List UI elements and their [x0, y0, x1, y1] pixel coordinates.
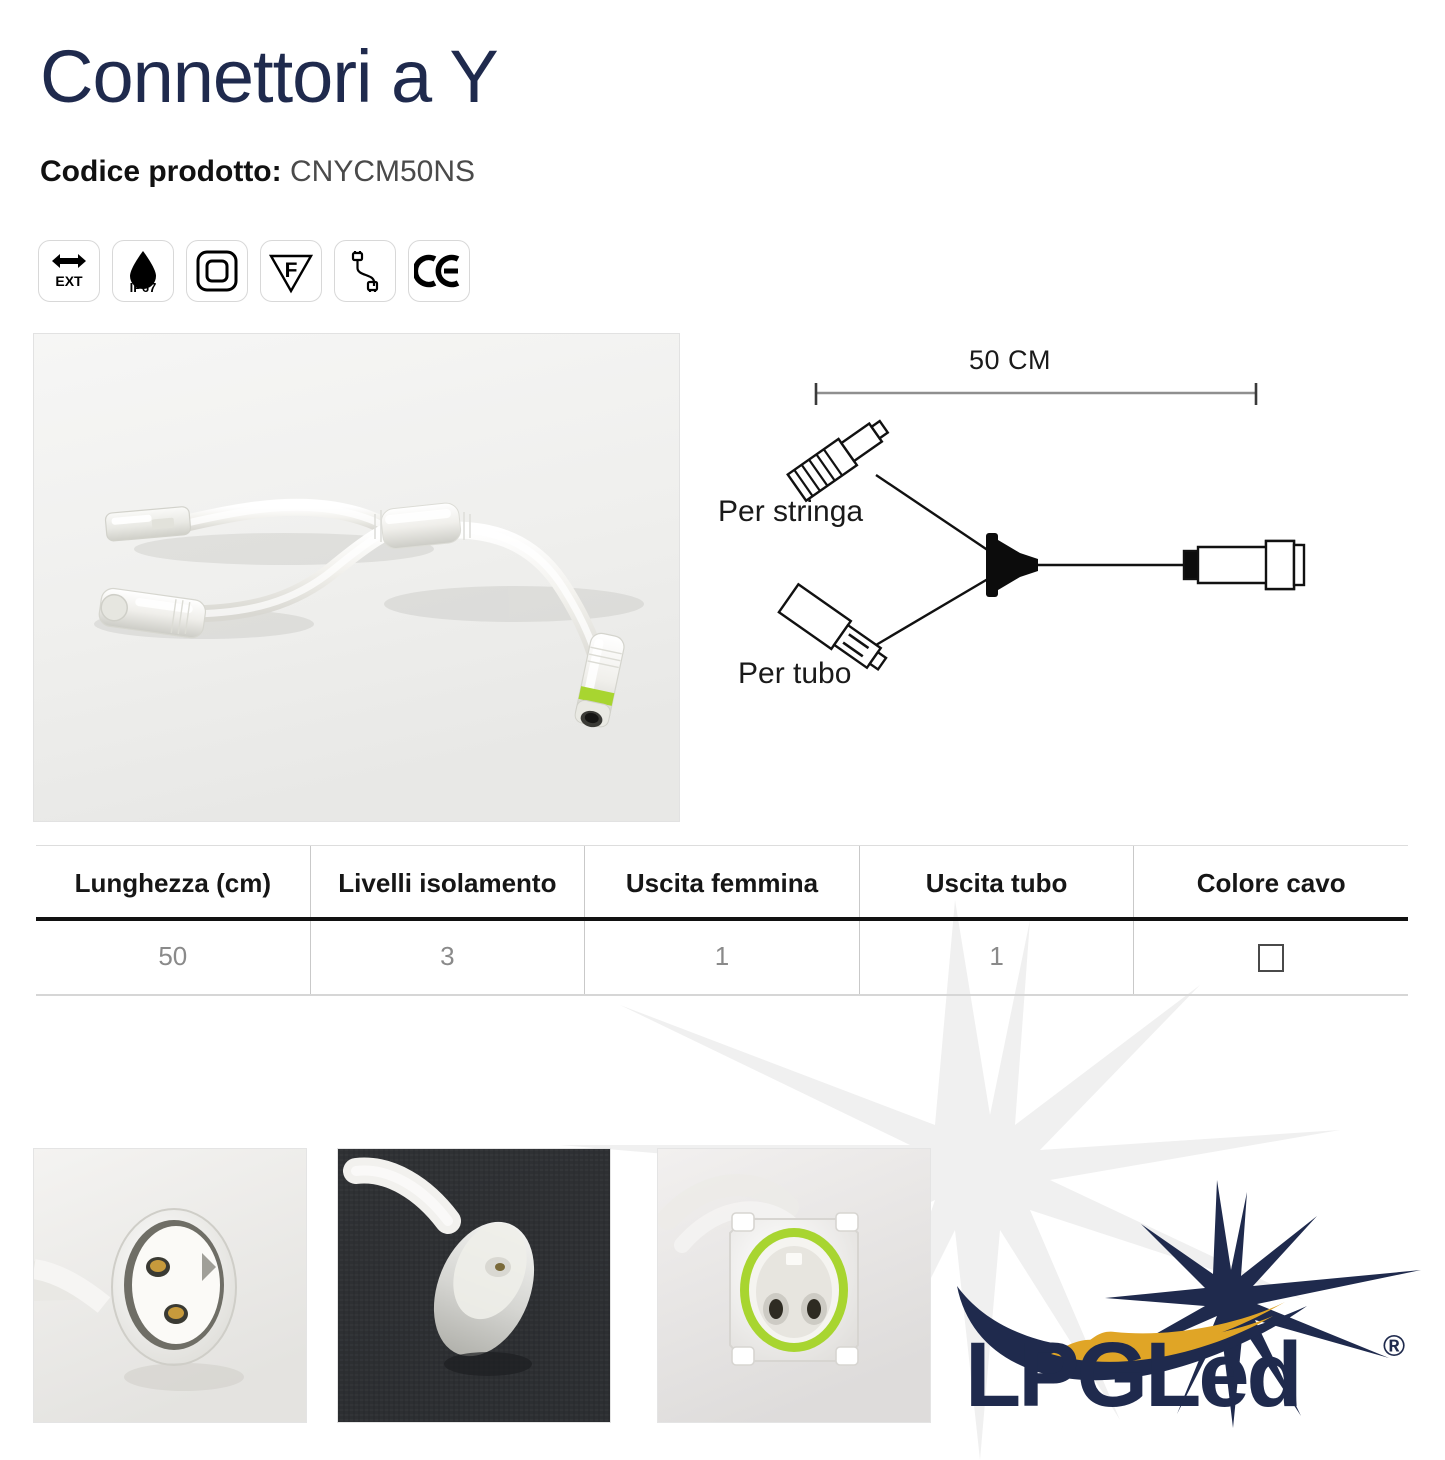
ce-mark-icon: [414, 246, 464, 296]
connector-stringa: [788, 414, 893, 501]
col-header-lunghezza: Lunghezza (cm): [36, 846, 311, 917]
product-code-label: Codice prodotto:: [40, 155, 282, 188]
green-ring-connector-image: [658, 1149, 930, 1422]
cell-uscita-femmina: 1: [585, 921, 860, 994]
ext-label: EXT: [55, 273, 83, 289]
badge-ext: EXT: [38, 240, 100, 302]
ip67-icon: IP67: [118, 246, 168, 296]
cell-lunghezza: 50: [36, 921, 311, 994]
product-code-value: CNYCM50NS: [290, 155, 475, 188]
badge-row: EXT IP67 F: [38, 240, 470, 302]
datasheet-page: Connettori a Y Codice prodotto: CNYCM50N…: [0, 0, 1445, 1445]
ext-icon: EXT: [44, 246, 94, 296]
f-label: F: [285, 259, 298, 282]
label-per-tubo: Per tubo: [738, 657, 851, 691]
product-code: Codice prodotto: CNYCM50NS: [40, 155, 475, 189]
logo-text: LPGLed: [965, 1324, 1300, 1426]
detail-photo-green-ring-connector: [657, 1148, 931, 1423]
lpgled-logo: LPGLed ®: [955, 1178, 1425, 1428]
cell-colore-cavo: [1134, 921, 1408, 994]
col-header-livelli: Livelli isolamento: [311, 846, 586, 917]
detail-photo-female-socket: [33, 1148, 307, 1423]
badge-cable: [334, 240, 396, 302]
female-socket-image: [34, 1149, 306, 1422]
product-photo-main: [33, 333, 680, 822]
cable-color-swatch: [1258, 944, 1284, 972]
table-bottom-rule: [36, 994, 1408, 996]
ip67-label: IP67: [130, 280, 157, 295]
detail-photo-clear-connector: [337, 1148, 611, 1423]
col-header-colore-cavo: Colore cavo: [1134, 846, 1408, 917]
spec-table: Lunghezza (cm) Livelli isolamento Uscita…: [36, 845, 1408, 996]
connector-male: [1184, 541, 1304, 589]
cell-uscita-tubo: 1: [860, 921, 1135, 994]
badge-ip67: IP67: [112, 240, 174, 302]
flame-retardant-f-icon: F: [266, 246, 316, 296]
badge-f-triangle: F: [260, 240, 322, 302]
page-title: Connettori a Y: [40, 38, 498, 116]
technical-drawing: 50 CM: [690, 345, 1330, 735]
y-junction: [986, 533, 1038, 597]
col-header-uscita-femmina: Uscita femmina: [585, 846, 860, 917]
col-header-uscita-tubo: Uscita tubo: [860, 846, 1135, 917]
label-per-stringa: Per stringa: [718, 495, 863, 529]
registered-mark: ®: [1383, 1330, 1405, 1363]
badge-class-two: [186, 240, 248, 302]
cell-livelli: 3: [311, 921, 586, 994]
table-header-row: Lunghezza (cm) Livelli isolamento Uscita…: [36, 846, 1408, 917]
class-two-icon: [192, 246, 242, 296]
y-splitter-photo: [34, 334, 679, 821]
clear-connector-image: [338, 1149, 610, 1422]
cable-icon: [340, 246, 390, 296]
badge-ce: [408, 240, 470, 302]
table-row: 50 3 1 1: [36, 921, 1408, 994]
